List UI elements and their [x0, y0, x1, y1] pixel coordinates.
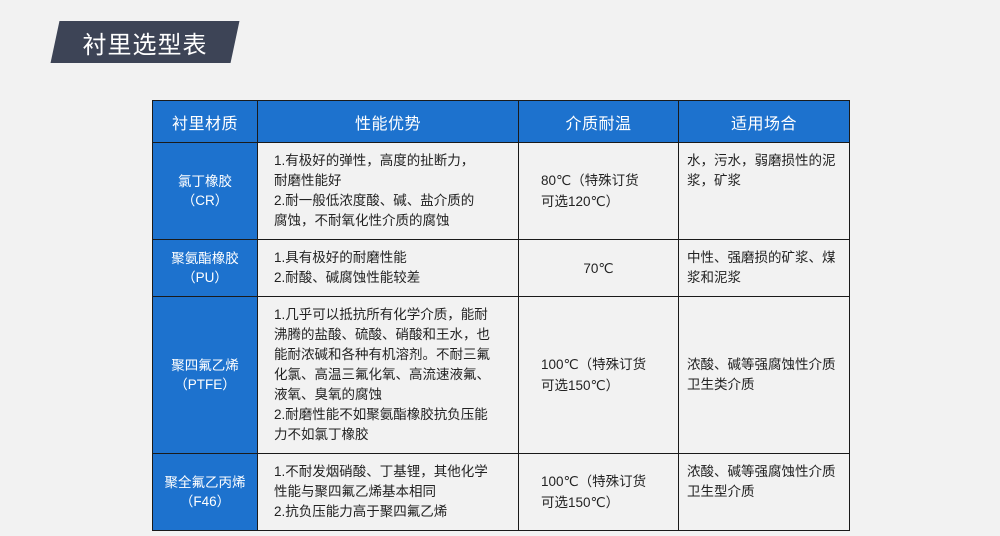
- scene-line: 水，污水，弱磨损性的泥: [687, 151, 841, 171]
- performance-line: 力不如氯丁橡胶: [274, 425, 508, 445]
- cell-performance: 1.有极好的弹性，高度的扯断力， 耐磨性能好 2.耐一般低浓度酸、碱、盐介质的 …: [258, 143, 519, 240]
- column-header-performance: 性能优势: [258, 101, 519, 143]
- cell-material: 氯丁橡胶 （CR）: [153, 143, 258, 240]
- cell-material: 聚四氟乙烯 （PTFE）: [153, 297, 258, 454]
- table-body: 氯丁橡胶 （CR） 1.有极好的弹性，高度的扯断力， 耐磨性能好 2.耐一般低浓…: [153, 143, 850, 531]
- temperature-line: 100℃（特殊订货: [541, 471, 666, 492]
- scene-line: 浆和泥浆: [687, 268, 841, 288]
- cell-performance: 1.具有极好的耐磨性能 2.耐酸、碱腐蚀性能较差: [258, 240, 519, 297]
- scene-line: 浆，矿浆: [687, 171, 841, 191]
- material-name: 聚四氟乙烯: [155, 356, 255, 375]
- performance-line: 化氯、高温三氟化氧、高流速液氟、: [274, 365, 508, 385]
- scene-line: 浓酸、碱等强腐蚀性介质: [687, 462, 841, 482]
- table-row: 氯丁橡胶 （CR） 1.有极好的弹性，高度的扯断力， 耐磨性能好 2.耐一般低浓…: [153, 143, 850, 240]
- material-code: （CR）: [155, 191, 255, 210]
- performance-line: 液氧、臭氧的腐蚀: [274, 385, 508, 405]
- table-header: 衬里材质 性能优势 介质耐温 适用场合: [153, 101, 850, 143]
- performance-line: 2.耐一般低浓度酸、碱、盐介质的: [274, 191, 508, 211]
- cell-material: 聚氨酯橡胶 （PU）: [153, 240, 258, 297]
- column-header-material: 衬里材质: [153, 101, 258, 143]
- column-header-scene: 适用场合: [679, 101, 850, 143]
- page-title: 衬里选型表: [55, 21, 235, 63]
- cell-material: 聚全氟乙丙烯 （F46）: [153, 454, 258, 531]
- scene-line: 浓酸、碱等强腐蚀性介质: [687, 355, 841, 375]
- performance-line: 1.几乎可以抵抗所有化学介质，能耐: [274, 305, 508, 325]
- performance-line: 2.耐酸、碱腐蚀性能较差: [274, 268, 508, 288]
- scene-line: 卫生类介质: [687, 375, 841, 395]
- table-row: 聚四氟乙烯 （PTFE） 1.几乎可以抵抗所有化学介质，能耐 沸腾的盐酸、硫酸、…: [153, 297, 850, 454]
- material-name: 氯丁橡胶: [155, 172, 255, 191]
- temperature-line: 70℃: [531, 258, 666, 279]
- performance-line: 2.耐磨性能不如聚氨酯橡胶抗负压能: [274, 405, 508, 425]
- temperature-line: 可选150℃）: [541, 492, 666, 513]
- cell-scene: 浓酸、碱等强腐蚀性介质 卫生类介质: [679, 297, 850, 454]
- performance-line: 沸腾的盐酸、硫酸、硝酸和王水，也: [274, 325, 508, 345]
- performance-line: 耐磨性能好: [274, 171, 508, 191]
- performance-line: 1.有极好的弹性，高度的扯断力，: [274, 151, 508, 171]
- cell-performance: 1.不耐发烟硝酸、丁基锂，其他化学 性能与聚四氟乙烯基本相同 2.抗负压能力高于…: [258, 454, 519, 531]
- cell-temperature: 70℃: [519, 240, 679, 297]
- material-code: （PU）: [155, 268, 255, 287]
- performance-line: 性能与聚四氟乙烯基本相同: [274, 482, 508, 502]
- table-header-row: 衬里材质 性能优势 介质耐温 适用场合: [153, 101, 850, 143]
- cell-scene: 中性、强磨损的矿浆、煤 浆和泥浆: [679, 240, 850, 297]
- cell-temperature: 100℃（特殊订货 可选150℃）: [519, 454, 679, 531]
- lining-selection-table: 衬里材质 性能优势 介质耐温 适用场合 氯丁橡胶 （CR） 1.有极好的弹性，高…: [152, 100, 850, 531]
- temperature-line: 可选120℃）: [541, 191, 666, 212]
- performance-line: 2.抗负压能力高于聚四氟乙烯: [274, 502, 508, 522]
- material-code: （PTFE）: [155, 375, 255, 394]
- material-name: 聚全氟乙丙烯: [155, 473, 255, 492]
- material-name: 聚氨酯橡胶: [155, 249, 255, 268]
- cell-performance: 1.几乎可以抵抗所有化学介质，能耐 沸腾的盐酸、硫酸、硝酸和王水，也 能耐浓碱和…: [258, 297, 519, 454]
- cell-scene: 浓酸、碱等强腐蚀性介质 卫生型介质: [679, 454, 850, 531]
- cell-temperature: 80℃（特殊订货 可选120℃）: [519, 143, 679, 240]
- cell-temperature: 100℃（特殊订货 可选150℃）: [519, 297, 679, 454]
- table-row: 聚全氟乙丙烯 （F46） 1.不耐发烟硝酸、丁基锂，其他化学 性能与聚四氟乙烯基…: [153, 454, 850, 531]
- performance-line: 1.不耐发烟硝酸、丁基锂，其他化学: [274, 462, 508, 482]
- temperature-line: 可选150℃）: [541, 375, 666, 396]
- table-row: 聚氨酯橡胶 （PU） 1.具有极好的耐磨性能 2.耐酸、碱腐蚀性能较差 70℃ …: [153, 240, 850, 297]
- page-title-banner: 衬里选型表: [55, 21, 245, 63]
- temperature-line: 80℃（特殊订货: [541, 170, 666, 191]
- material-code: （F46）: [155, 492, 255, 511]
- temperature-line: 100℃（特殊订货: [541, 354, 666, 375]
- performance-line: 1.具有极好的耐磨性能: [274, 248, 508, 268]
- scene-line: 中性、强磨损的矿浆、煤: [687, 248, 841, 268]
- performance-line: 能耐浓碱和各种有机溶剂。不耐三氟: [274, 345, 508, 365]
- cell-scene: 水，污水，弱磨损性的泥 浆，矿浆: [679, 143, 850, 240]
- scene-line: 卫生型介质: [687, 482, 841, 502]
- performance-line: 腐蚀，不耐氧化性介质的腐蚀: [274, 211, 508, 231]
- column-header-temperature: 介质耐温: [519, 101, 679, 143]
